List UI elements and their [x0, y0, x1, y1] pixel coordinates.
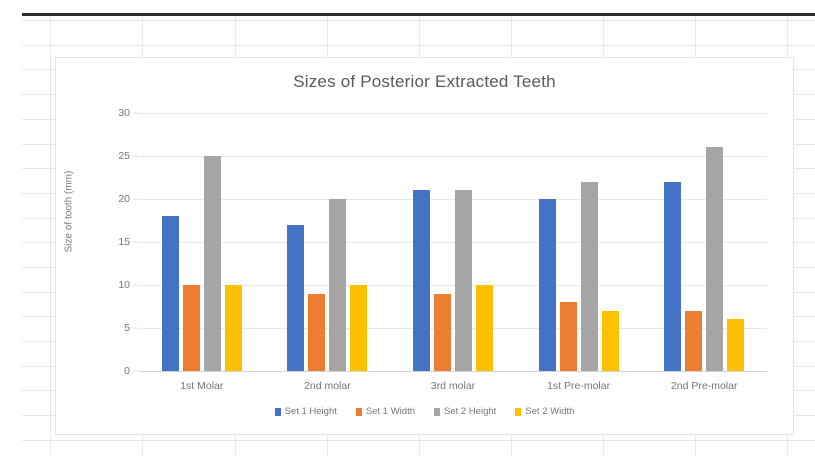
bar-series-1[interactable]: [413, 190, 430, 371]
y-tick-label: 30: [118, 107, 130, 119]
bar-series-3[interactable]: [455, 190, 472, 371]
x-tick-label: 2nd Pre-molar: [671, 380, 738, 392]
bar-series-4[interactable]: [602, 311, 619, 371]
bar-group-bars: [139, 113, 265, 371]
plot-area: 0510152025301st Molar2nd molar3rd molar1…: [139, 113, 767, 371]
bar-series-3[interactable]: [706, 147, 723, 371]
bar-series-2[interactable]: [560, 302, 577, 371]
legend-label: Set 1 Width: [366, 406, 415, 417]
bar-series-3[interactable]: [204, 156, 221, 371]
y-tick-mark: [133, 199, 138, 200]
bar-group: 1st Pre-molar: [516, 113, 642, 371]
bar-series-3[interactable]: [581, 182, 598, 371]
y-tick-mark: [133, 242, 138, 243]
bar-group-bars: [390, 113, 516, 371]
sheet-column-gridline: [50, 16, 51, 456]
y-tick-mark: [133, 371, 138, 372]
legend-label: Set 1 Height: [285, 406, 337, 417]
y-tick-mark: [133, 113, 138, 114]
chart-title: Sizes of Posterior Extracted Teeth: [56, 72, 793, 92]
y-tick-label: 5: [124, 322, 130, 334]
bar-group: 2nd Pre-molar: [641, 113, 767, 371]
bar-group-bars: [516, 113, 642, 371]
legend-label: Set 2 Height: [444, 406, 496, 417]
bar-series-2[interactable]: [434, 294, 451, 371]
x-tick-label: 1st Molar: [180, 380, 223, 392]
bar-group-bars: [641, 113, 767, 371]
legend-swatch-icon: [434, 408, 440, 416]
y-tick-mark: [133, 328, 138, 329]
legend-label: Set 2 Width: [525, 406, 574, 417]
legend-swatch-icon: [275, 408, 281, 416]
legend-item-series-3[interactable]: Set 2 Height: [434, 406, 496, 417]
y-tick-label: 20: [118, 193, 130, 205]
bar-group: 3rd molar: [390, 113, 516, 371]
bar-series-4[interactable]: [476, 285, 493, 371]
bar-series-1[interactable]: [539, 199, 556, 371]
chart-legend[interactable]: Set 1 HeightSet 1 WidthSet 2 HeightSet 2…: [56, 406, 793, 417]
chart-panel[interactable]: Sizes of Posterior Extracted Teeth Size …: [55, 57, 794, 435]
bar-group: 2nd molar: [265, 113, 391, 371]
y-tick-label: 25: [118, 150, 130, 162]
y-tick-label: 0: [124, 365, 130, 377]
bar-series-2[interactable]: [308, 294, 325, 371]
y-tick-label: 10: [118, 279, 130, 291]
bar-series-4[interactable]: [350, 285, 367, 371]
bar-series-4[interactable]: [727, 319, 744, 371]
bar-series-3[interactable]: [329, 199, 346, 371]
legend-item-series-2[interactable]: Set 1 Width: [356, 406, 415, 417]
bar-series-1[interactable]: [664, 182, 681, 371]
bar-series-2[interactable]: [183, 285, 200, 371]
x-tick-label: 3rd molar: [431, 380, 475, 392]
legend-swatch-icon: [515, 408, 521, 416]
y-gridline: [139, 371, 767, 372]
y-tick-mark: [133, 285, 138, 286]
legend-item-series-1[interactable]: Set 1 Height: [275, 406, 337, 417]
bar-series-4[interactable]: [225, 285, 242, 371]
y-axis-title: Size of tooth (mm): [64, 152, 75, 272]
bar-group-bars: [265, 113, 391, 371]
bar-series-1[interactable]: [162, 216, 179, 371]
bar-series-1[interactable]: [287, 225, 304, 371]
legend-item-series-4[interactable]: Set 2 Width: [515, 406, 574, 417]
y-tick-mark: [133, 156, 138, 157]
bar-group: 1st Molar: [139, 113, 265, 371]
x-tick-label: 2nd molar: [304, 380, 351, 392]
legend-swatch-icon: [356, 408, 362, 416]
x-tick-label: 1st Pre-molar: [547, 380, 610, 392]
bar-series-2[interactable]: [685, 311, 702, 371]
y-tick-label: 15: [118, 236, 130, 248]
